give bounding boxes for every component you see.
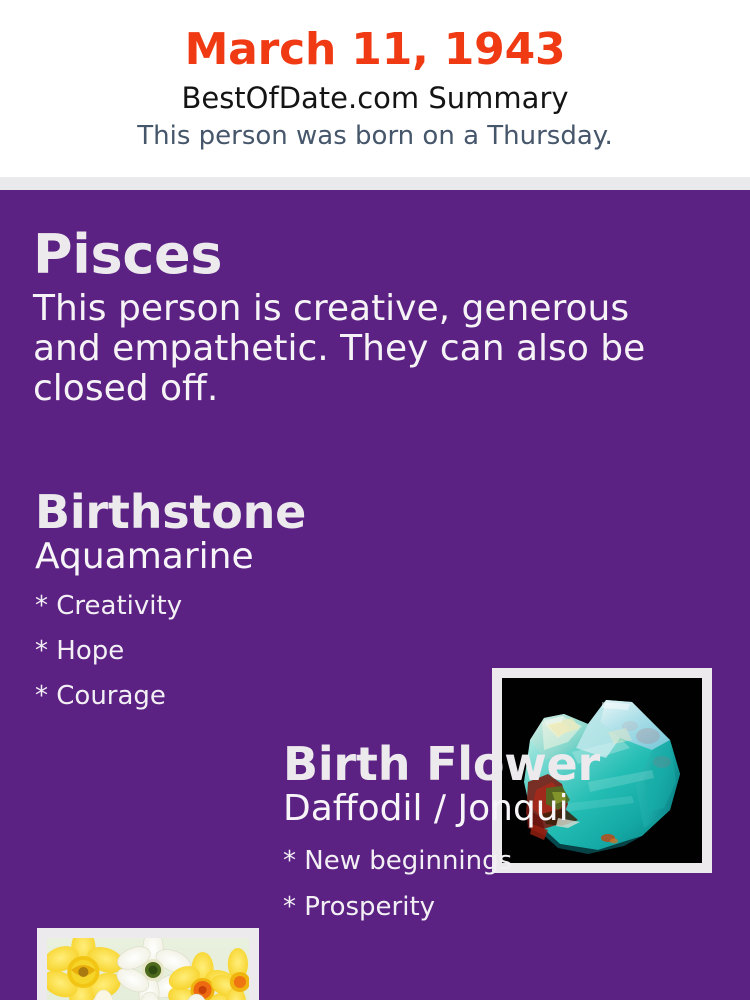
birth-flower-image xyxy=(47,938,249,1000)
birthstone-name: Aquamarine xyxy=(35,536,475,578)
zodiac-sign-name: Pisces xyxy=(33,225,723,285)
page-title-date: March 11, 1943 xyxy=(0,24,750,76)
zodiac-section: Pisces This person is creative, generous… xyxy=(33,225,723,409)
list-item: * Creativity xyxy=(35,584,475,629)
header-divider xyxy=(0,177,750,190)
list-item: * Hope xyxy=(35,629,475,674)
birth-weekday-note: This person was born on a Thursday. xyxy=(0,119,750,153)
list-item: * New beginnings xyxy=(283,838,733,884)
site-summary-label: BestOfDate.com Summary xyxy=(0,79,750,118)
daffodil-flowers-icon xyxy=(47,938,249,1000)
birthstone-heading: Birthstone xyxy=(35,486,475,538)
birthstone-trait-list: * Creativity * Hope * Courage xyxy=(35,584,475,719)
zodiac-description: This person is creative, generous and em… xyxy=(33,289,705,409)
birth-flower-image-frame xyxy=(37,928,259,1000)
birth-flower-heading: Birth Flower xyxy=(283,738,733,790)
birthstone-section: Birthstone Aquamarine * Creativity * Hop… xyxy=(35,486,475,735)
list-item: * Prosperity xyxy=(283,884,733,930)
page-header: March 11, 1943 BestOfDate.com Summary Th… xyxy=(0,0,750,177)
list-item: * Courage xyxy=(35,674,475,719)
birth-flower-name: Daffodil / Jonqui xyxy=(283,788,733,830)
birth-flower-section: Birth Flower Daffodil / Jonqui * New beg… xyxy=(283,738,733,946)
summary-panel: Pisces This person is creative, generous… xyxy=(0,190,750,1000)
birth-flower-trait-list: * New beginnings * Prosperity xyxy=(283,838,733,930)
